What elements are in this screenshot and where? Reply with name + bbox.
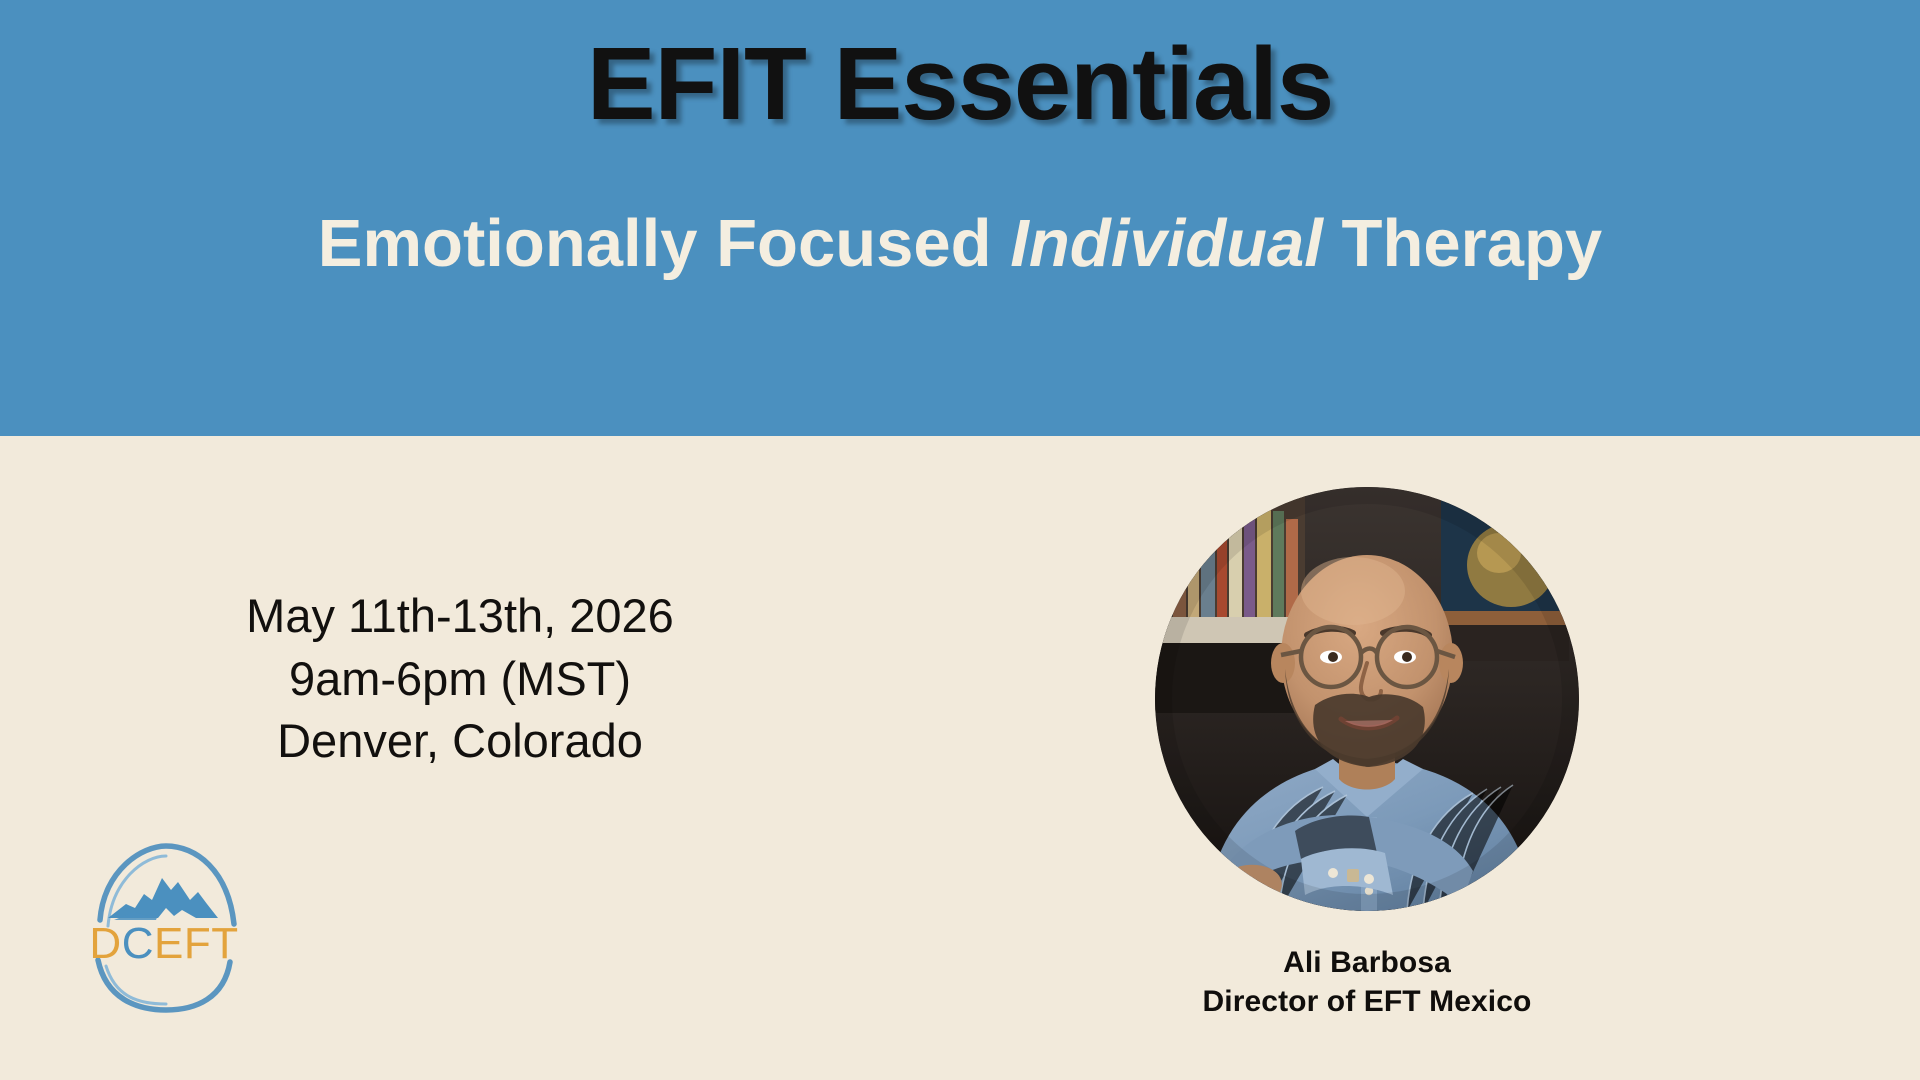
event-time: 9am-6pm (MST) — [140, 648, 780, 711]
logo-mountain-icon — [108, 878, 218, 918]
logo-letter-c: C — [122, 919, 154, 968]
page-title: EFIT Essentials — [0, 28, 1920, 139]
event-details-block: May 11th-13th, 2026 9am-6pm (MST) Denver… — [140, 585, 780, 773]
dceft-logo: DCEFT — [78, 838, 250, 1013]
event-location: Denver, Colorado — [140, 710, 780, 773]
subtitle-part-1: Emotionally Focused — [318, 206, 1010, 281]
presenter-photo-image — [1155, 487, 1579, 911]
logo-wordmark: DCEFT — [89, 919, 238, 968]
page-subtitle: Emotionally Focused Individual Therapy — [0, 205, 1920, 282]
presenter-caption: Ali Barbosa Director of EFT Mexico — [1082, 943, 1652, 1021]
subtitle-part-2: Therapy — [1323, 206, 1602, 281]
logo-lower-arc-inner — [106, 966, 166, 1004]
event-flyer: EFIT Essentials Emotionally Focused Indi… — [0, 0, 1920, 1080]
dceft-logo-icon: DCEFT — [78, 838, 250, 1013]
subtitle-emphasis: Individual — [1010, 206, 1323, 281]
presenter-name: Ali Barbosa — [1082, 943, 1652, 982]
presenter-photo — [1155, 487, 1579, 911]
event-dates: May 11th-13th, 2026 — [140, 585, 780, 648]
logo-letter-d: D — [89, 919, 121, 968]
logo-letter-eft: EFT — [154, 919, 239, 968]
presenter-role: Director of EFT Mexico — [1082, 982, 1652, 1021]
header-band: EFIT Essentials Emotionally Focused Indi… — [0, 0, 1920, 436]
